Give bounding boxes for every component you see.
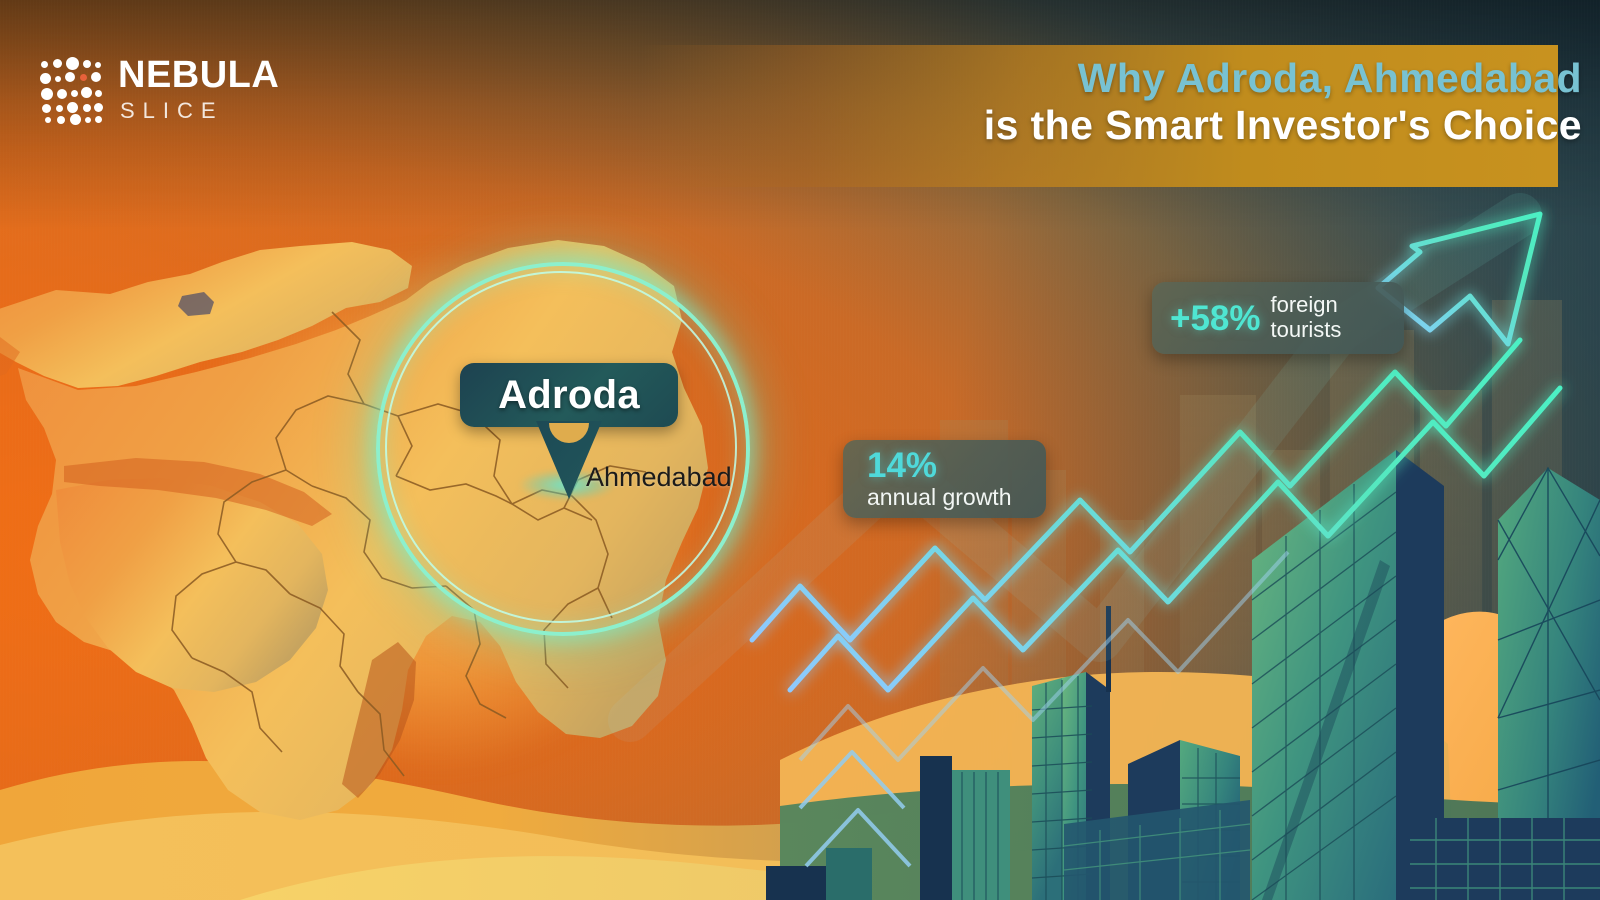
arrow-left-segment [800,752,910,866]
stat-value-foreign-tourists: +58% [1170,301,1261,336]
infographic-canvas: NEBULA SLICE Why Adroda, Ahmedabad is th… [0,0,1600,900]
pin-label-text: Adroda [498,373,640,418]
stat-badge-foreign-tourists[interactable]: +58% foreign tourists [1152,282,1404,354]
title-line-1: Why Adroda, Ahmedabad [42,58,1582,99]
page-title: Why Adroda, Ahmedabad is the Smart Inves… [42,58,1582,146]
title-line-2: is the Smart Investor's Choice [42,105,1582,146]
city-label: Ahmedabad [586,462,732,493]
stat-label-line-1: foreign [1271,293,1342,318]
stat-value-annual-growth: 14% [867,448,937,483]
stat-badge-annual-growth[interactable]: 14% annual growth [843,440,1046,518]
pin-label: Adroda [460,363,678,427]
stat-label-annual-growth: annual growth [867,485,1012,510]
stat-label-line-2: tourists [1271,318,1342,343]
stat-label-foreign-tourists: foreign tourists [1271,293,1342,342]
